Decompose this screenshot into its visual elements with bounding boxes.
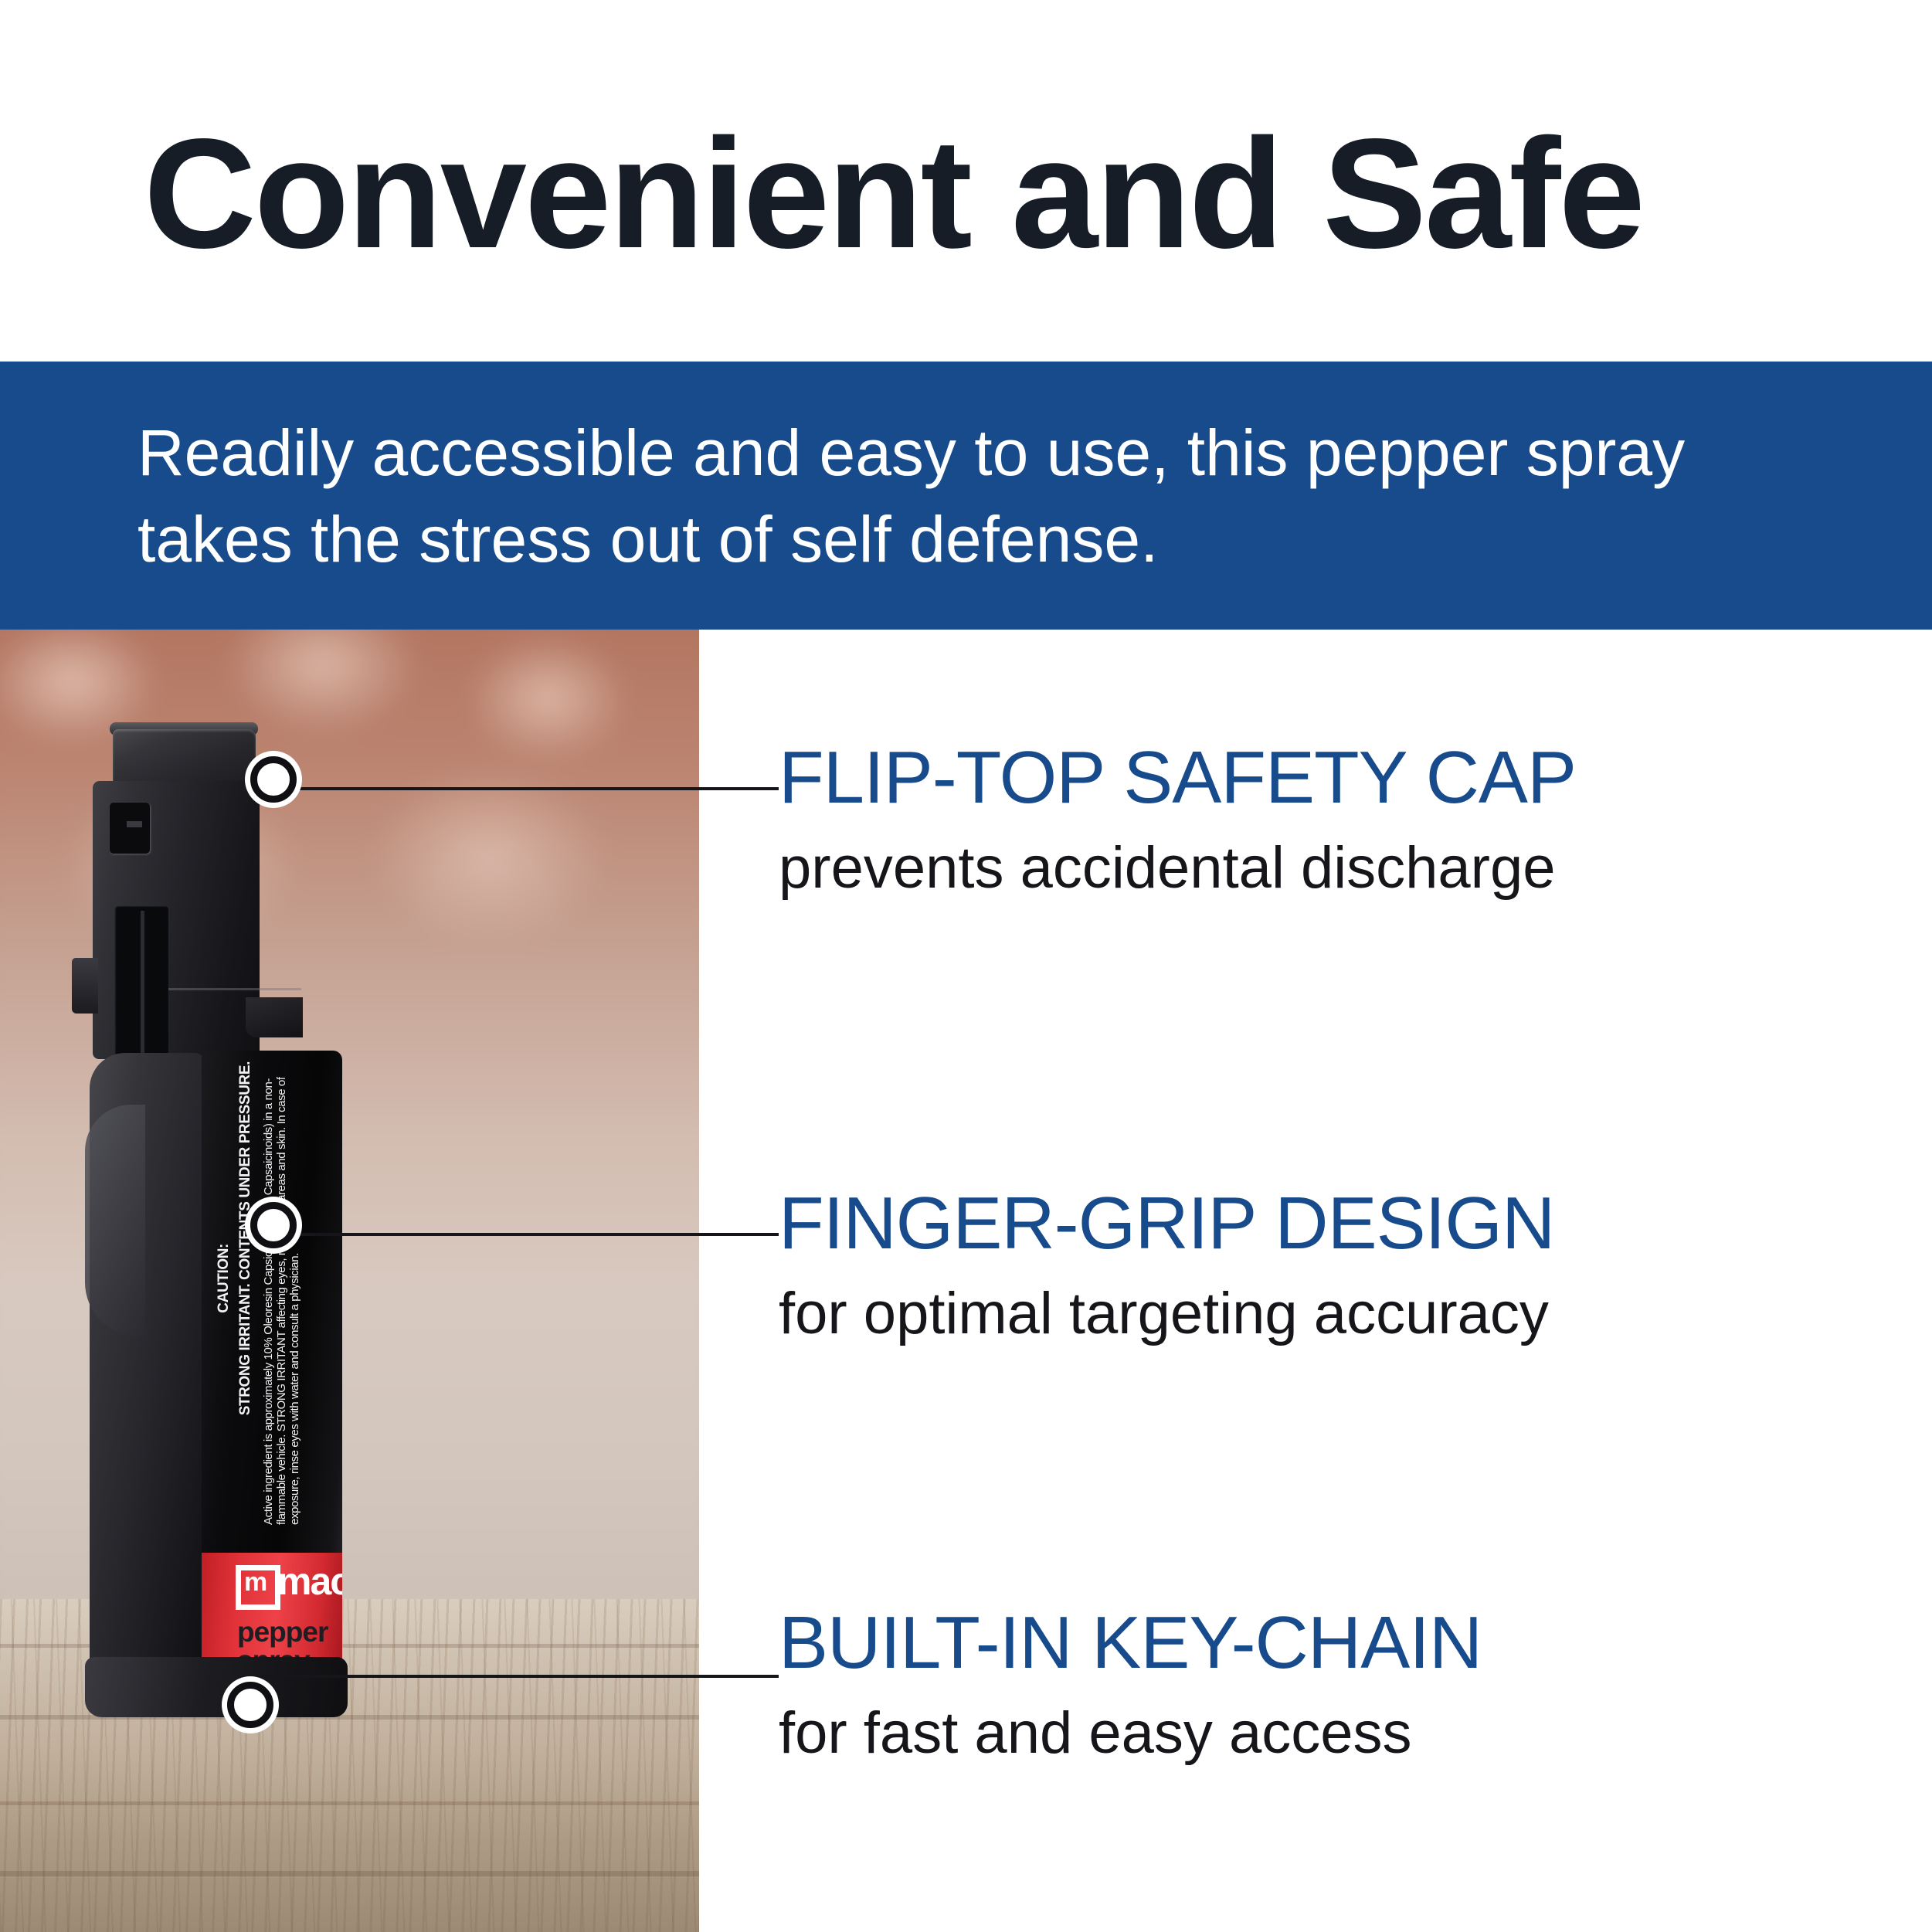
caution-label: CAUTION: STRONG IRRITANT. CONTENTS UNDER… (202, 1051, 342, 1553)
callout-finger-grip-design: FINGER-GRIP DESIGN for optimal targeting… (779, 1183, 1914, 1349)
callout-subtitle: for optimal targeting accuracy (779, 1279, 1914, 1349)
actuator-window (110, 803, 150, 854)
banner-description: Readily accessible and easy to use, this… (138, 409, 1791, 582)
finger-grip-contour (85, 1105, 145, 1336)
caution-heading: CAUTION: (216, 1244, 233, 1313)
infographic-page: Convenient and Safe Readily accessible a… (0, 0, 1932, 1932)
unit-base (85, 1657, 348, 1717)
callout-built-in-key-chain: BUILT-IN KEY-CHAIN for fast and easy acc… (779, 1603, 1914, 1768)
page-title: Convenient and Safe (144, 116, 1643, 270)
callout-title: BUILT-IN KEY-CHAIN (779, 1603, 1914, 1683)
ingredients-text: Active ingredient is approximately 10% O… (262, 1061, 342, 1525)
leader-line-1 (284, 787, 779, 790)
actuator-bar (127, 821, 142, 827)
heading-band: Convenient and Safe (0, 0, 1932, 362)
head-seam (147, 988, 301, 990)
product-photo: CAUTION: STRONG IRRITANT. CONTENTS UNDER… (0, 630, 699, 1932)
pepper-spray-unit: CAUTION: STRONG IRRITANT. CONTENTS UNDER… (45, 630, 307, 1932)
trigger-slot-divider (141, 911, 144, 1075)
spray-canister: CAUTION: STRONG IRRITANT. CONTENTS UNDER… (202, 1051, 342, 1684)
callout-dot-flip-top-safety-cap[interactable] (250, 756, 297, 803)
callout-dot-finger-grip-design[interactable] (250, 1202, 297, 1248)
leader-line-3 (261, 1675, 779, 1678)
callout-title: FLIP-TOP SAFETY CAP (779, 738, 1914, 818)
callout-subtitle: prevents accidental discharge (779, 834, 1914, 903)
caution-line: STRONG IRRITANT. CONTENTS UNDER PRESSURE… (237, 1061, 254, 1415)
callout-title: FINGER-GRIP DESIGN (779, 1183, 1914, 1264)
intro-banner: Readily accessible and easy to use, this… (0, 362, 1932, 630)
callout-flip-top-safety-cap: FLIP-TOP SAFETY CAP prevents accidental … (779, 738, 1914, 903)
mace-logo-letter: m (244, 1573, 267, 1591)
leader-line-2 (284, 1233, 779, 1236)
head-notch (246, 997, 303, 1037)
brand-name: mace (277, 1562, 342, 1601)
trigger-tab (72, 958, 98, 1014)
callout-dot-built-in-key-chain[interactable] (227, 1682, 273, 1728)
callout-subtitle: for fast and easy access (779, 1699, 1914, 1768)
